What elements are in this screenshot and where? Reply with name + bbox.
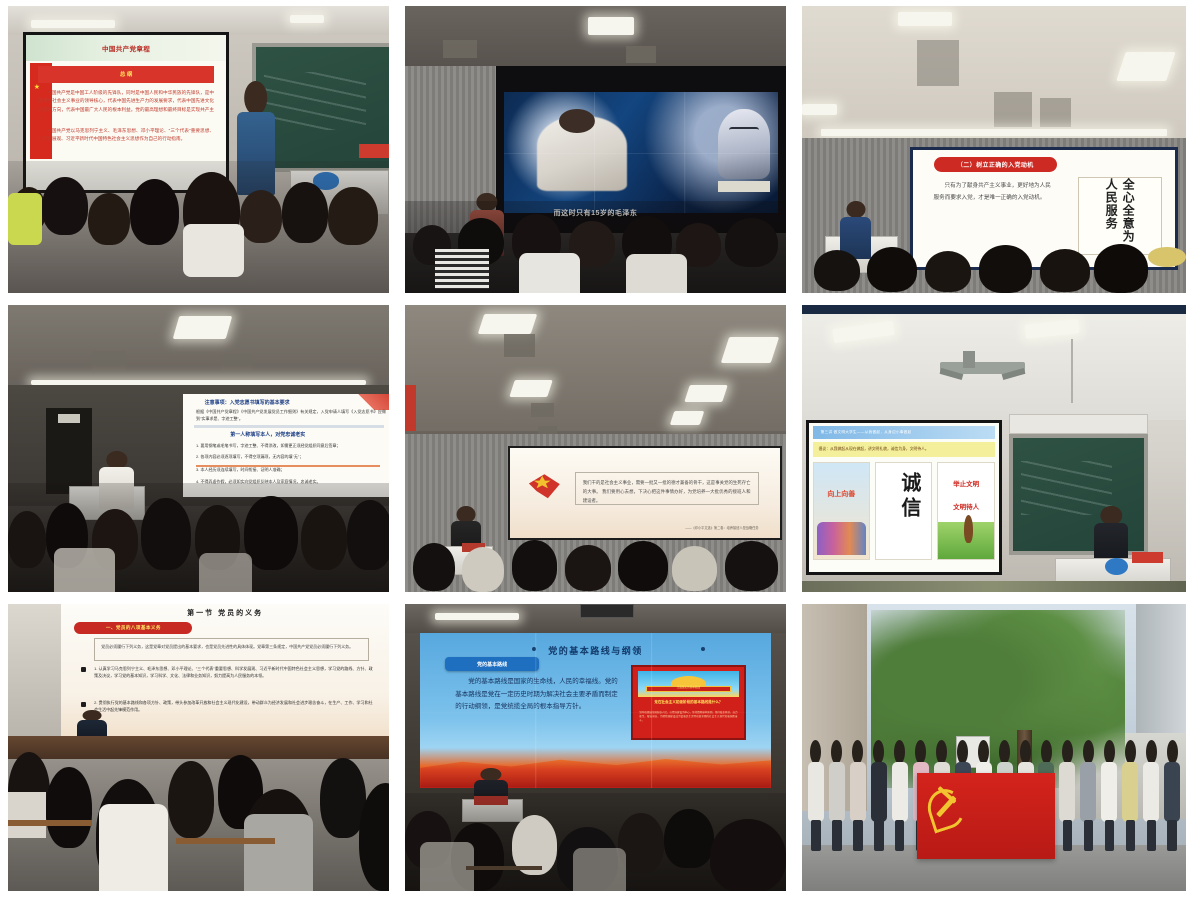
audience-4 xyxy=(8,483,389,592)
slide6-header: 第三讲 做文明大学生——从我做起，从身边小事做起 xyxy=(813,430,912,435)
photo-cell-7[interactable]: 第一节 党员的义务 一、党员的八项基本义务 党员必须履行下列义务，这是党章对党员… xyxy=(0,598,397,897)
audience-2 xyxy=(405,201,786,293)
slide4-intro: 根据《中国共产党章程》《中国共产党发展党员工作细则》有关规定，入党申请人填写《入… xyxy=(196,409,386,423)
slide6-card-3: 举止文明 文明待人 xyxy=(937,462,994,560)
slide1-band: 总 纲 xyxy=(120,70,133,78)
slide5-body: 我们干的是社会主义事业，需要一批又一批的德才兼备的骨干，这是事关党的生死存亡的大… xyxy=(576,473,758,511)
projection-screen-7: 第一节 党员的义务 一、党员的八项基本义务 党员必须履行下列义务，这是党章对党员… xyxy=(61,604,389,736)
audience-8 xyxy=(405,793,786,891)
slide8-callout-card: 全面落实的基本路线 党在社会主义初级阶段的基本路线是什么？ 领导和团结全国各族人… xyxy=(631,665,747,739)
led-video-wall-2 xyxy=(504,92,778,213)
projection-screen-4: 注意事项：入党志愿书填写的基本要求 根据《中国共产党章程》《中国共产党发展党员工… xyxy=(183,394,389,497)
slide4-bullet-3: 3. 本人经历须连续填写，时间衔接、证明人准确； xyxy=(196,467,386,474)
photo-image-6: 第三讲 做文明大学生——从我做起，从身边小事做起 倡议：从我做起从现在做起，讲文… xyxy=(802,305,1186,592)
audience-5 xyxy=(405,535,786,592)
slide7-pill: 一、党员的八项基本义务 xyxy=(106,625,161,631)
slide1-para-1: 中国共产党是中国工人阶级的先锋队，同时是中国人民和中华民族的先锋队，是中国特色社… xyxy=(38,89,214,123)
slide8-card-text: 领导和团结全国各族人民，以经济建设为中心，坚持四项基本原则，坚持改革开放，自力更… xyxy=(639,711,737,723)
slide8-title: 党的基本路线与纲领 xyxy=(420,644,771,657)
photo-cell-2[interactable]: 而这时只有15岁的毛泽东 xyxy=(397,0,794,299)
audience-7 xyxy=(8,736,389,891)
photo-collage-grid: 中国共产党章程 ★ 总 纲 中国共产党是中国工人阶级的先锋队，同时是中国人民和中… xyxy=(0,0,1194,897)
photo-image-5: 我们干的是社会主义事业，需要一批又一批的德才兼备的骨干，这是事关党的生死存亡的大… xyxy=(405,305,786,592)
audience-3 xyxy=(802,241,1186,293)
slide6-subheader: 倡议：从我做起从现在做起，讲文明礼貌，诚信为身，文明待人。 xyxy=(813,447,929,452)
photo-image-1: 中国共产党章程 ★ 总 纲 中国共产党是中国工人阶级的先锋队，同时是中国人民和中… xyxy=(8,6,389,293)
slide7-quote: 党员必须履行下列义务，这是党章对党员提出的基本要求，也是党员先进性的具体体现。党… xyxy=(95,639,368,654)
party-flag xyxy=(917,773,1055,859)
party-emblem-icon xyxy=(526,472,561,499)
hammer-sickle-icon xyxy=(928,789,964,829)
slide8-card-heading: 党在社会主义初级阶段的基本路线是什么？ xyxy=(639,700,737,705)
slide6-card-1: 向上向善 xyxy=(813,462,870,560)
slide6-card3-subtitle: 文明待人 xyxy=(938,501,993,511)
photo-cell-4[interactable]: 注意事项：入党志愿书填写的基本要求 根据《中国共产党章程》《中国共产党发展党员工… xyxy=(0,299,397,598)
photo-image-3: （二）树立正确的入党动机 只有为了献身共产主义事业，更好地为人民服务而要求入党，… xyxy=(802,6,1186,293)
slide4-heading: 注意事项：入党志愿书填写的基本要求 xyxy=(205,399,290,406)
projection-screen-6: 第三讲 做文明大学生——从我做起，从身边小事做起 倡议：从我做起从现在做起，讲文… xyxy=(806,420,1002,575)
projection-screen-5: 我们干的是社会主义事业，需要一批又一批的德才兼备的骨干，这是事关党的生死存亡的大… xyxy=(508,446,782,541)
slide5-citation: ——《邓小平文选》第二卷：培养接班人是战略任务 xyxy=(685,525,758,530)
slide8-badge: 党的基本路线 xyxy=(477,661,507,668)
photo-cell-5[interactable]: 我们干的是社会主义事业，需要一批又一批的德才兼备的骨干，这是事关党的生死存亡的大… xyxy=(397,299,794,598)
slide7-bullet-1: 1. 认真学习马克思列宁主义、毛泽东思想、邓小平理论、"三个代表"重要思想、科学… xyxy=(94,665,373,679)
photo-cell-3[interactable]: （二）树立正确的入党动机 只有为了献身共产主义事业，更好地为人民服务而要求入党，… xyxy=(794,0,1194,299)
slide4-bullet-2: 2. 各项内容必须逐项填写，不得空项漏项，无内容的填"无"； xyxy=(196,454,386,461)
slide8-ribbon: 全面落实的基本路线 xyxy=(647,687,730,690)
photo-cell-1[interactable]: 中国共产党章程 ★ 总 纲 中国共产党是中国工人阶级的先锋队，同时是中国人民和中… xyxy=(0,0,397,299)
photo-image-7: 第一节 党员的义务 一、党员的八项基本义务 党员必须履行下列义务，这是党章对党员… xyxy=(8,604,389,891)
photo-image-8: 党的基本路线与纲领 党的基本路线 党的基本路线是国家的生命线，人民的幸福线。党的… xyxy=(405,604,786,891)
slide1-title: 中国共产党章程 xyxy=(102,43,150,53)
photo-cell-9[interactable] xyxy=(794,598,1194,897)
slide4-subheading: 第一人称填写本人，对党忠诚老实 xyxy=(230,431,305,438)
slide6-card1-title: 向上向善 xyxy=(814,489,869,499)
photo-cell-6[interactable]: 第三讲 做文明大学生——从我做起，从身边小事做起 倡议：从我做起从现在做起，讲文… xyxy=(794,299,1194,598)
photo-cell-8[interactable]: 党的基本路线与纲领 党的基本路线 党的基本路线是国家的生命线，人民的幸福线。党的… xyxy=(397,598,794,897)
photo-image-9 xyxy=(802,604,1186,891)
slide3-title: （二）树立正确的入党动机 xyxy=(957,160,1034,169)
photo-image-4: 注意事项：入党志愿书填写的基本要求 根据《中国共产党章程》《中国共产党发展党员工… xyxy=(8,305,389,592)
slide8-body: 党的基本路线是国家的生命线，人民的幸福线。党的基本路线是党在一定历史时期为解决社… xyxy=(455,676,620,714)
slide7-bullet-2: 2. 贯彻执行党的基本路线和各项方针、政策，带头参加改革开放和社会主义现代化建设… xyxy=(94,699,373,713)
slide6-card3-title: 举止文明 xyxy=(938,478,993,488)
slide4-bullet-1: 1. 要用钢笔或毛笔书写，字迹工整、不得涂改，如需更正须经党组织同意后签章； xyxy=(196,443,386,450)
slide7-title: 第一节 党员的义务 xyxy=(61,608,389,618)
slide6-card-2: 诚 信 xyxy=(875,462,932,560)
slide6-card2-title: 诚 信 xyxy=(895,472,924,517)
photo-image-2: 而这时只有15岁的毛泽东 xyxy=(405,6,786,293)
slide1-para-2: 中国共产党以马克思列宁主义、毛泽东思想、邓小平理论、"三个代表"重要思想、科学发… xyxy=(38,127,214,144)
audience-1 xyxy=(8,161,389,293)
led-video-wall-8: 党的基本路线与纲领 党的基本路线 党的基本路线是国家的生命线，人民的幸福线。党的… xyxy=(420,633,771,788)
